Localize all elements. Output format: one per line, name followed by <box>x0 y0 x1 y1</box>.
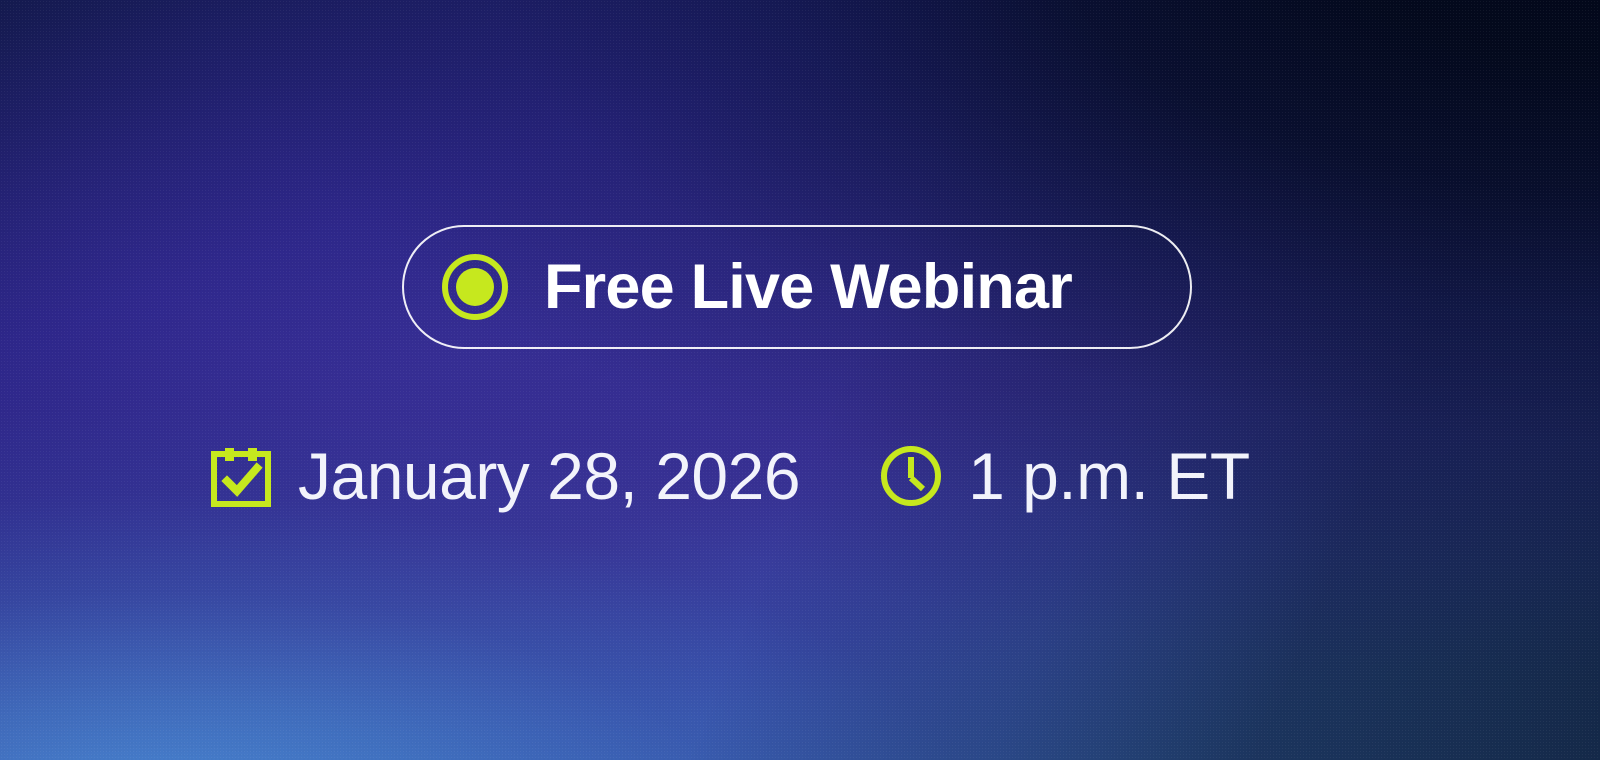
badge-label: Free Live Webinar <box>544 256 1072 319</box>
clock-icon <box>878 443 944 509</box>
banner-content: Free Live Webinar January 28, 2026 <box>0 0 1600 760</box>
radio-selected-icon <box>440 252 510 322</box>
calendar-check-icon <box>208 443 274 509</box>
webinar-promo-banner: Free Live Webinar January 28, 2026 <box>0 0 1600 760</box>
webinar-date-item: January 28, 2026 <box>208 443 800 509</box>
free-live-webinar-badge[interactable]: Free Live Webinar <box>402 225 1192 349</box>
webinar-details-row: January 28, 2026 1 p.m. ET <box>208 428 1250 524</box>
webinar-time-item: 1 p.m. ET <box>878 443 1250 509</box>
webinar-time-label: 1 p.m. ET <box>968 443 1250 509</box>
webinar-date-label: January 28, 2026 <box>298 443 800 509</box>
